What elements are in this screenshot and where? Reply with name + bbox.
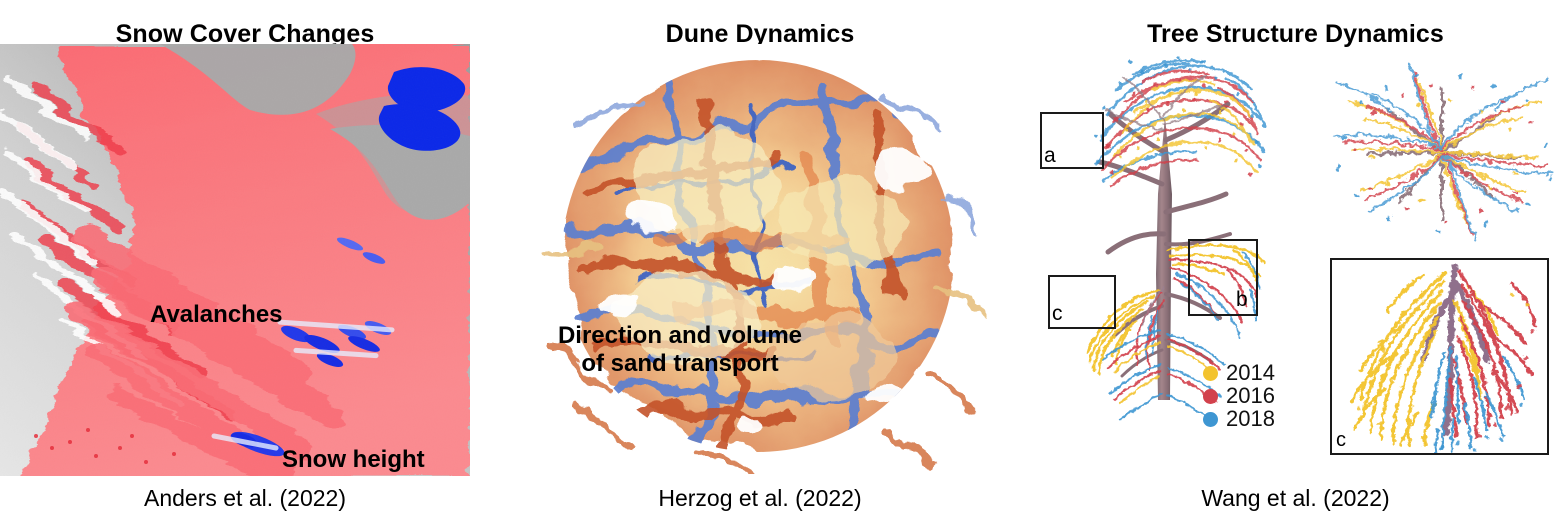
caption-tree: Wang et al. (2022) (1030, 485, 1561, 512)
roi-label-b: b (1236, 289, 1248, 310)
snow-cover-change-map: Avalanches Snow height decrease (0, 44, 470, 476)
panel-tree-structure-dynamics: Tree Structure Dynamics (1030, 0, 1561, 528)
inset-c-label: c (1336, 429, 1346, 452)
legend-item-2014: 2014 (1203, 362, 1313, 384)
tree-inset-c-graphic (1332, 260, 1547, 453)
legend-label-2018: 2018 (1226, 408, 1275, 430)
caption-dune: Herzog et al. (2022) (490, 485, 1030, 512)
legend-item-2018: 2018 (1203, 408, 1313, 430)
tree-inset-c: c (1330, 258, 1549, 455)
dune-change-map: Direction and volume of sand transport (510, 44, 1010, 474)
legend-label-2014: 2014 (1226, 362, 1275, 384)
legend-swatch-2014 (1203, 366, 1218, 381)
snow-annotation-snow-height-decrease: Snow height decrease (282, 447, 425, 476)
snow-map-graphic (0, 44, 470, 476)
legend-swatch-2018 (1203, 412, 1218, 427)
legend-swatch-2016 (1203, 389, 1218, 404)
figure-root: Snow Cover Changes (0, 0, 1561, 528)
roi-label-a: a (1044, 145, 1056, 166)
dune-map-graphic (510, 44, 1010, 474)
tree-point-cloud-figure: c 2014 2016 2018 (1030, 44, 1561, 464)
snow-annotation-avalanches: Avalanches (150, 302, 283, 329)
legend-label-2016: 2016 (1226, 385, 1275, 407)
tree-legend: 2014 2016 2018 (1203, 362, 1313, 431)
tree-top-view (1330, 54, 1560, 249)
caption-snow: Anders et al. (2022) (0, 485, 490, 512)
panel-dune-dynamics: Dune Dynamics (490, 0, 1030, 528)
dune-annotation-sand-transport: Direction and volume of sand transport (535, 322, 825, 377)
legend-item-2016: 2016 (1203, 385, 1313, 407)
panel-snow-cover-changes: Snow Cover Changes (0, 0, 490, 528)
roi-label-c: c (1052, 303, 1063, 324)
